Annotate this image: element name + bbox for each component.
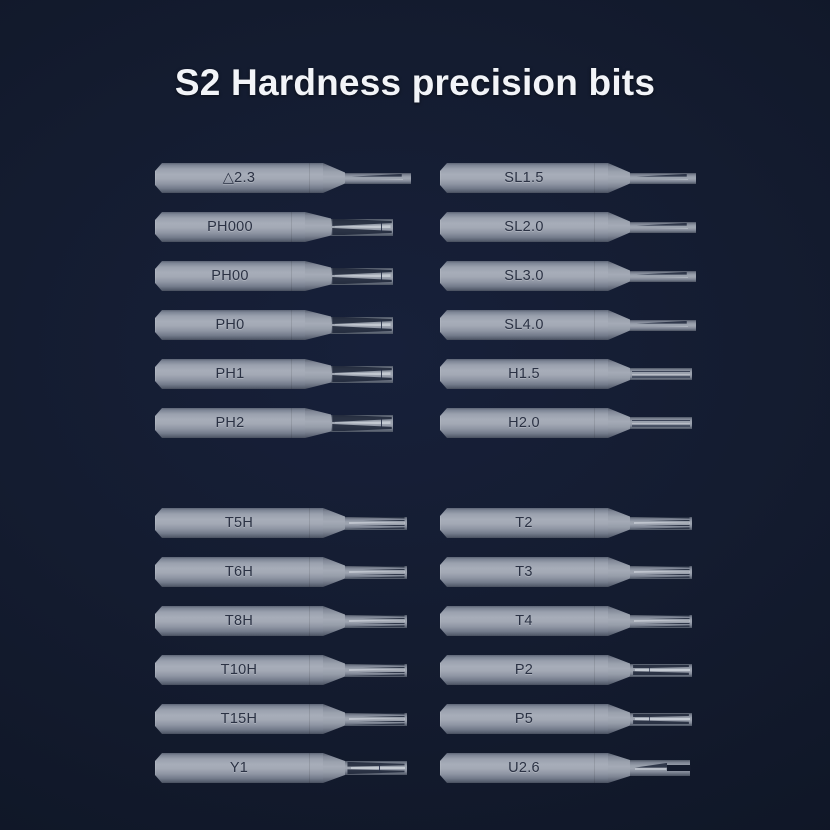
bit-row: T8H <box>155 606 405 636</box>
bit-label: PH2 <box>155 408 305 438</box>
bit-tip <box>630 615 692 628</box>
bit-neck <box>305 261 331 291</box>
bit-neck <box>608 508 630 538</box>
bit-neck <box>305 359 331 389</box>
bit-neck <box>323 163 345 193</box>
bit-row: T15H <box>155 704 405 734</box>
bit-neck <box>608 704 630 734</box>
bit-label: T4 <box>440 606 608 636</box>
bit-label: T15H <box>155 704 323 734</box>
bit-tip <box>331 317 393 334</box>
bit-tip <box>331 415 393 432</box>
bit-neck <box>608 212 630 242</box>
bit-tip <box>630 417 692 429</box>
bit-tip <box>630 271 696 282</box>
bit-neck <box>323 753 345 783</box>
bit-row: PH00 <box>155 261 405 291</box>
bit-neck <box>305 212 331 242</box>
bit-tip <box>345 761 407 775</box>
bit-neck <box>323 606 345 636</box>
bit-label: PH00 <box>155 261 305 291</box>
bit-neck <box>608 310 630 340</box>
bit-tip <box>345 517 407 530</box>
bit-row: T10H <box>155 655 405 685</box>
bit-label: SL3.0 <box>440 261 608 291</box>
bit-neck <box>608 753 630 783</box>
bit-label: T5H <box>155 508 323 538</box>
bit-label: T10H <box>155 655 323 685</box>
bit-tip <box>331 219 393 236</box>
bit-tip <box>331 366 393 383</box>
product-graphic: S2 Hardness precision bits △2.3PH000PH00… <box>0 0 830 830</box>
bit-label: P2 <box>440 655 608 685</box>
bit-row: T2 <box>440 508 690 538</box>
bit-row: P2 <box>440 655 690 685</box>
bit-label: Y1 <box>155 753 323 783</box>
page-title: S2 Hardness precision bits <box>0 62 830 104</box>
bit-neck <box>608 359 630 389</box>
bit-neck <box>323 655 345 685</box>
bit-label: T8H <box>155 606 323 636</box>
bit-label: SL1.5 <box>440 163 608 193</box>
bit-neck <box>305 408 331 438</box>
bit-row: SL2.0 <box>440 212 690 242</box>
bit-neck <box>608 163 630 193</box>
bit-row: PH000 <box>155 212 405 242</box>
bit-tip <box>630 566 692 579</box>
bit-row: P5 <box>440 704 690 734</box>
bit-tip <box>630 713 692 726</box>
bit-row: T6H <box>155 557 405 587</box>
bit-tip <box>345 173 411 184</box>
bit-tip <box>630 222 696 233</box>
bit-row: PH0 <box>155 310 405 340</box>
bit-tip <box>345 615 407 628</box>
bit-label: △2.3 <box>155 163 323 193</box>
bit-label: SL2.0 <box>440 212 608 242</box>
bit-neck <box>608 557 630 587</box>
bit-row: H2.0 <box>440 408 690 438</box>
bit-neck <box>608 655 630 685</box>
bit-tip <box>630 517 692 530</box>
bit-label: T3 <box>440 557 608 587</box>
bit-neck <box>323 557 345 587</box>
bit-neck <box>323 508 345 538</box>
bit-neck <box>323 704 345 734</box>
bit-row: SL3.0 <box>440 261 690 291</box>
bit-neck <box>608 408 630 438</box>
bit-neck <box>608 261 630 291</box>
bit-label: P5 <box>440 704 608 734</box>
bit-label: PH000 <box>155 212 305 242</box>
bit-row: T4 <box>440 606 690 636</box>
bit-tip <box>630 760 690 776</box>
bit-tip <box>345 566 407 579</box>
bit-label: PH1 <box>155 359 305 389</box>
bit-tip <box>331 268 393 285</box>
bit-tip <box>345 713 407 726</box>
bit-row: △2.3 <box>155 163 405 193</box>
bit-row: SL1.5 <box>440 163 690 193</box>
bit-row: PH2 <box>155 408 405 438</box>
bit-row: T5H <box>155 508 405 538</box>
bit-row: PH1 <box>155 359 405 389</box>
bit-label: T2 <box>440 508 608 538</box>
bit-label: PH0 <box>155 310 305 340</box>
bit-row: U2.6 <box>440 753 690 783</box>
bit-label: U2.6 <box>440 753 608 783</box>
bit-tip <box>630 173 696 184</box>
bit-row: SL4.0 <box>440 310 690 340</box>
bit-row: H1.5 <box>440 359 690 389</box>
bit-label: H1.5 <box>440 359 608 389</box>
bit-neck <box>305 310 331 340</box>
bit-neck <box>608 606 630 636</box>
bit-row: T3 <box>440 557 690 587</box>
bit-tip <box>345 664 407 677</box>
bit-label: T6H <box>155 557 323 587</box>
bit-tip <box>630 368 692 380</box>
bit-label: H2.0 <box>440 408 608 438</box>
bit-row: Y1 <box>155 753 405 783</box>
bit-tip <box>630 320 696 331</box>
bit-label: SL4.0 <box>440 310 608 340</box>
bit-tip <box>630 664 692 677</box>
